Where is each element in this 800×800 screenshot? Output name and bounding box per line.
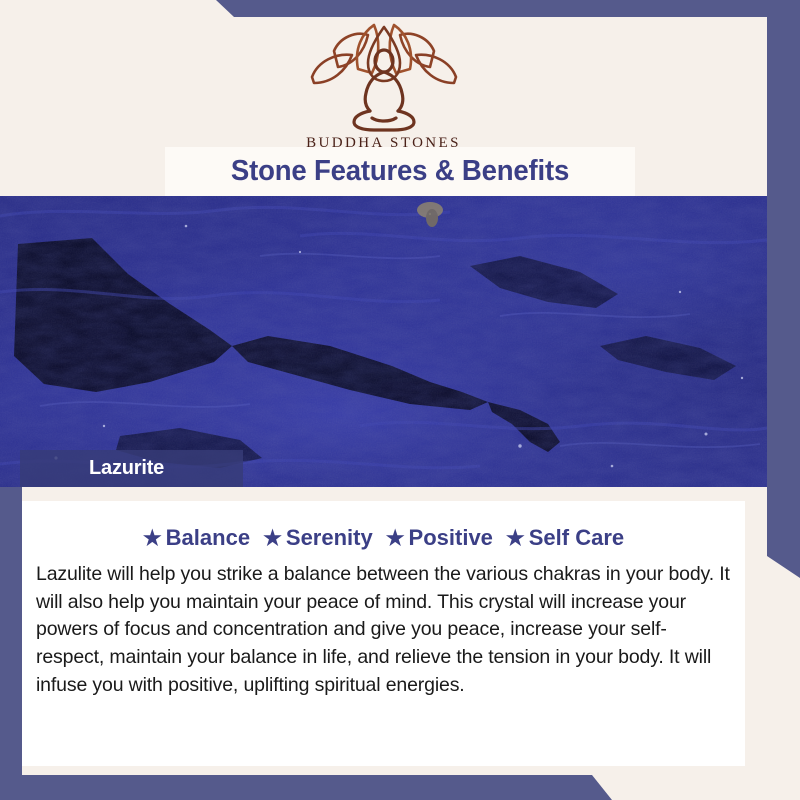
benefits-row: ★ Balance ★ Serenity ★ Positive ★ Self C… — [22, 501, 745, 551]
benefit-item: ★ Serenity — [263, 525, 386, 551]
benefit-label: Self Care — [529, 525, 624, 551]
benefit-label: Positive — [409, 525, 493, 551]
page-title: Stone Features & Benefits — [231, 155, 569, 188]
stone-photo-texture — [0, 196, 767, 487]
brand-logo: BUDDHA STONES — [0, 21, 767, 152]
star-icon: ★ — [143, 528, 162, 549]
benefit-item: ★ Balance — [143, 525, 263, 551]
lotus-meditation-icon — [296, 21, 472, 133]
benefit-item: ★ Self Care — [506, 525, 624, 551]
benefit-item: ★ Positive — [386, 525, 506, 551]
page-title-box: Stone Features & Benefits — [165, 147, 635, 196]
accent-bar-bottom — [0, 775, 800, 800]
accent-bar-left — [0, 486, 22, 800]
benefit-label: Serenity — [286, 525, 373, 551]
header: BUDDHA STONES Stone Features & Benefits — [0, 17, 767, 196]
content-card: ★ Balance ★ Serenity ★ Positive ★ Self C… — [22, 501, 745, 766]
poster-root: BUDDHA STONES Stone Features & Benefits — [0, 0, 800, 800]
stone-name-badge: Lazurite — [20, 450, 243, 487]
star-icon: ★ — [386, 528, 405, 549]
stone-name: Lazurite — [20, 457, 164, 480]
card-top-strip — [22, 487, 745, 501]
accent-bar-right — [767, 0, 800, 578]
star-icon: ★ — [506, 528, 525, 549]
accent-bar-top — [0, 0, 800, 17]
star-icon: ★ — [263, 528, 282, 549]
benefit-label: Balance — [166, 525, 250, 551]
description-text: Lazulite will help you strike a balance … — [36, 561, 731, 699]
stone-photo — [0, 196, 767, 487]
